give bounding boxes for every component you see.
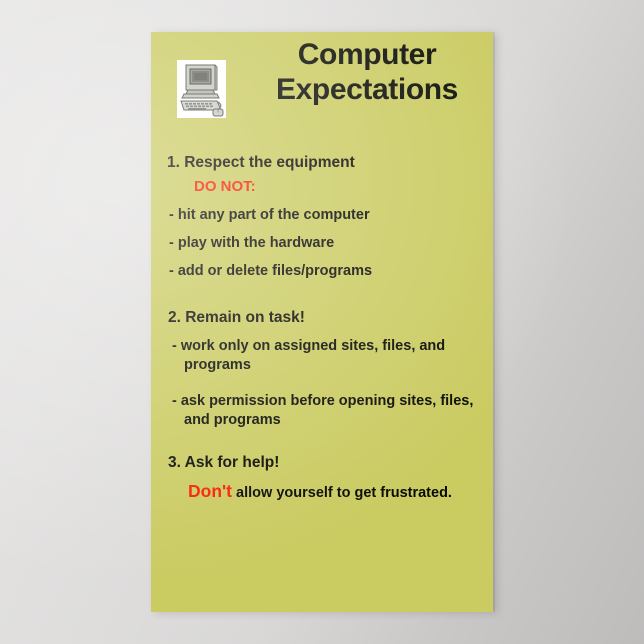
spacer-rule2-bullets [151,375,493,383]
expectations-list: 1. Respect the equipment DO NOT: - hit a… [151,152,493,503]
rule-3-statement-rest: allow yourself to get frustrated. [232,485,452,501]
poster-header: Computer Expectations [151,32,493,130]
rule-item-3: 3. Ask for help! Don't allow yourself to… [151,452,493,503]
poster-title: Computer Expectations [245,37,489,107]
rule-1-bullet-3: - add or delete files/programs [151,262,480,281]
rule-2-heading: 2. Remain on task! [151,307,493,328]
rule-1-bullet-1: - hit any part of the computer [151,206,480,225]
poster-title-line-1: Computer [245,37,489,72]
computer-expectations-poster: Computer Expectations 1. Respect the equ… [151,32,493,612]
spacer-rule1-rule2 [151,281,493,307]
desktop-computer-icon [177,60,226,118]
rule-1-warning: DO NOT: [151,176,493,197]
rule-item-1: 1. Respect the equipment DO NOT: - hit a… [151,152,493,281]
rule-3-heading: 3. Ask for help! [151,452,493,473]
rule-2-bullet-1: - work only on assigned sites, files, an… [151,337,484,375]
rule-item-2: 2. Remain on task! - work only on assign… [151,307,493,430]
rule-1-bullet-2: - play with the hardware [151,234,480,253]
rule-3-statement: Don't allow yourself to get frustrated. [151,481,488,503]
rule-2-bullet-2: - ask permission before opening sites, f… [151,392,484,430]
rule-3-warning: Don't [188,481,232,501]
spacer-rule2-rule3 [151,430,493,452]
rule-1-heading: 1. Respect the equipment [151,152,493,173]
poster-title-line-2: Expectations [245,72,489,107]
wall-background: Computer Expectations 1. Respect the equ… [0,0,644,644]
